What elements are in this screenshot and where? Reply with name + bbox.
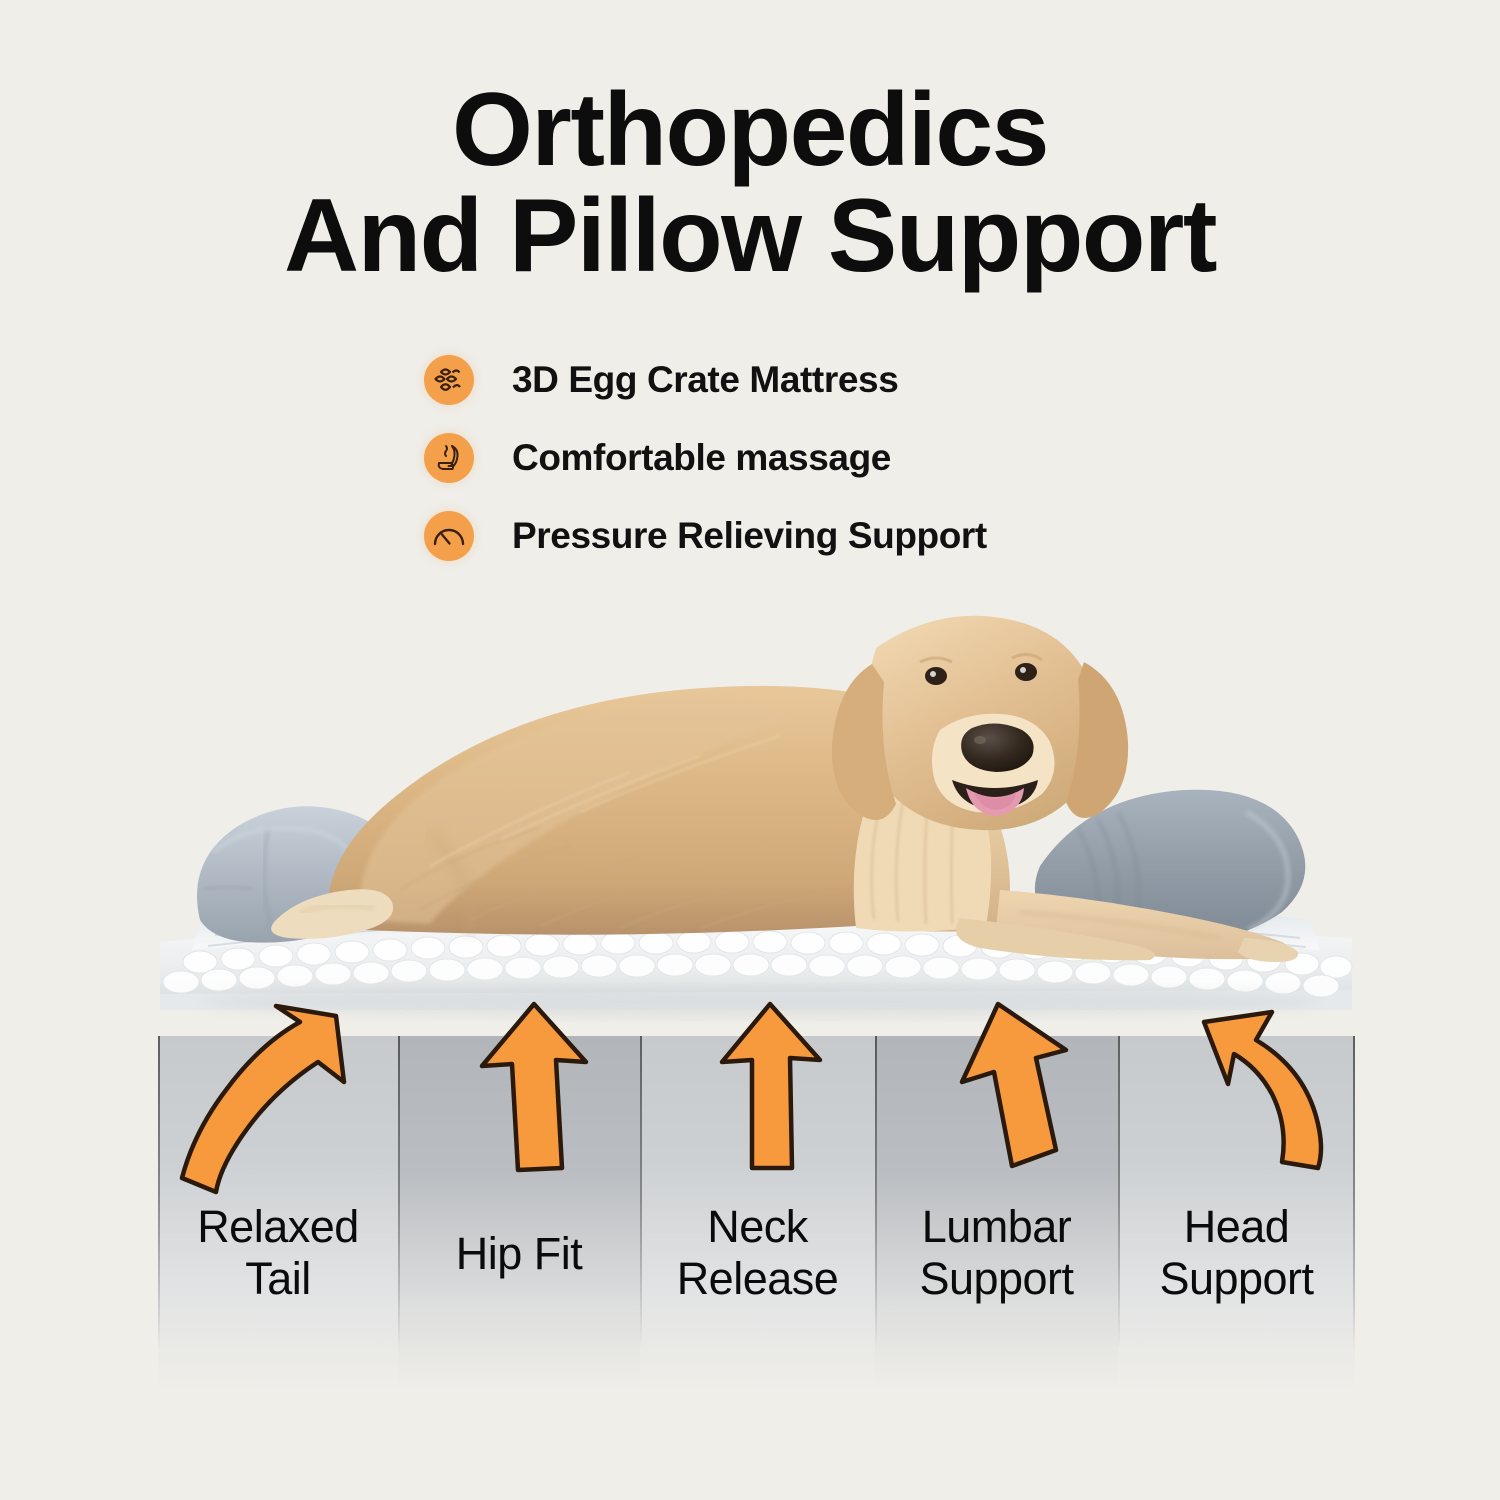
feature-list: 3D Egg Crate Mattress Comfortable massag… xyxy=(424,352,1184,586)
panel-edge-left xyxy=(398,1036,400,1391)
callout-label-line1: Neck xyxy=(707,1201,808,1252)
callout-label-line2: Support xyxy=(1159,1253,1313,1304)
heading-line-2: And Pillow Support xyxy=(0,182,1500,290)
feature-item-pressure: Pressure Relieving Support xyxy=(424,508,1184,564)
callout-label: Hip Fit xyxy=(398,1228,640,1280)
feature-label: Pressure Relieving Support xyxy=(512,515,987,557)
callout-label: Lumbar Support xyxy=(875,1201,1118,1305)
callout-label: Neck Release xyxy=(640,1201,875,1305)
feature-item-egg-crate: 3D Egg Crate Mattress xyxy=(424,352,1184,408)
arrow-neck-release xyxy=(712,1000,832,1180)
egg-crate-icon xyxy=(424,355,474,405)
page-title: Orthopedics And Pillow Support xyxy=(0,78,1500,290)
feature-label: 3D Egg Crate Mattress xyxy=(512,359,898,401)
callout-label: Relaxed Tail xyxy=(158,1201,398,1305)
feature-item-massage: Comfortable massage xyxy=(424,430,1184,486)
arrow-head-support xyxy=(1190,1006,1370,1186)
dog-golden-retriever xyxy=(271,616,1298,962)
arrow-relaxed-tail xyxy=(168,1000,368,1205)
massage-seat-icon xyxy=(424,433,474,483)
product-photo xyxy=(0,590,1500,1060)
feature-label: Comfortable massage xyxy=(512,437,891,479)
callout-label-line1: Head xyxy=(1184,1201,1290,1252)
pressure-gauge-icon xyxy=(424,511,474,561)
callout-label-line1: Lumbar xyxy=(922,1201,1072,1252)
infographic-canvas: Orthopedics And Pillow Support 3D Egg Cr… xyxy=(0,0,1500,1500)
heading-line-1: Orthopedics xyxy=(0,78,1500,182)
callout-label-line2: Tail xyxy=(245,1253,311,1304)
callout-label-line2: Release xyxy=(677,1253,839,1304)
callout-label-line2: Support xyxy=(919,1253,1073,1304)
arrow-lumbar-support xyxy=(948,1000,1088,1185)
callout-label: Head Support xyxy=(1118,1201,1355,1305)
arrow-hip-fit xyxy=(470,1000,600,1180)
callout-label-line1: Relaxed xyxy=(197,1201,359,1252)
callout-label-line1: Hip Fit xyxy=(456,1228,583,1279)
